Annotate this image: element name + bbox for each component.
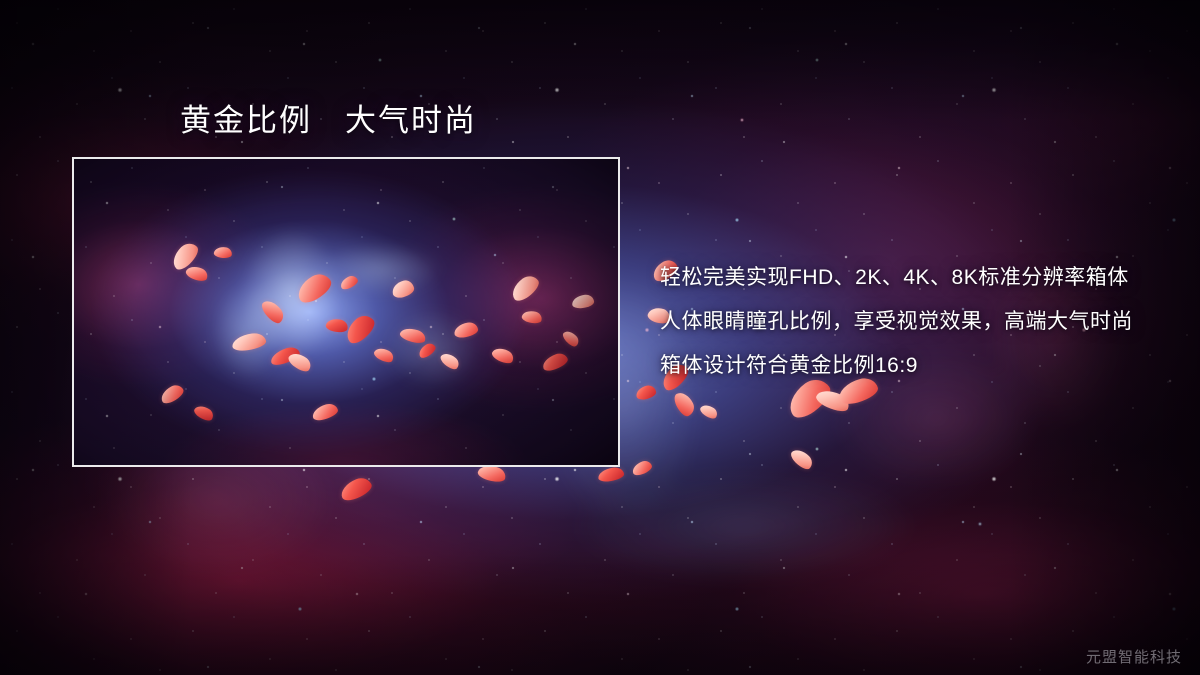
rose-petal xyxy=(672,389,697,418)
description-line: 轻松完美实现FHD、2K、4K、8K标准分辨率箱体 xyxy=(660,256,1180,300)
company-watermark: 元盟智能科技 xyxy=(1086,646,1182,667)
rose-petal xyxy=(631,459,654,477)
preview-vignette xyxy=(74,159,618,465)
feature-description: 轻松完美实现FHD、2K、4K、8K标准分辨率箱体 人体眼睛瞳孔比例，享受视觉效… xyxy=(660,256,1180,388)
rose-petal xyxy=(635,384,657,401)
rose-petal xyxy=(814,386,852,415)
description-line: 人体眼睛瞳孔比例，享受视觉效果，高端大气时尚 xyxy=(660,300,1180,344)
page-title: 黄金比例 大气时尚 xyxy=(180,102,477,141)
rose-petal xyxy=(789,446,816,473)
rose-petal xyxy=(597,466,625,482)
rose-petal xyxy=(698,402,719,421)
presentation-slide: 黄金比例 大气时尚 轻松完美实现FHD、2K、4K、8K标准分辨率箱体 人体眼睛… xyxy=(0,0,1200,675)
rose-petal xyxy=(338,475,374,504)
preview-image xyxy=(74,159,618,465)
display-preview-panel[interactable] xyxy=(72,157,620,467)
description-line: 箱体设计符合黄金比例16:9 xyxy=(660,344,1180,388)
